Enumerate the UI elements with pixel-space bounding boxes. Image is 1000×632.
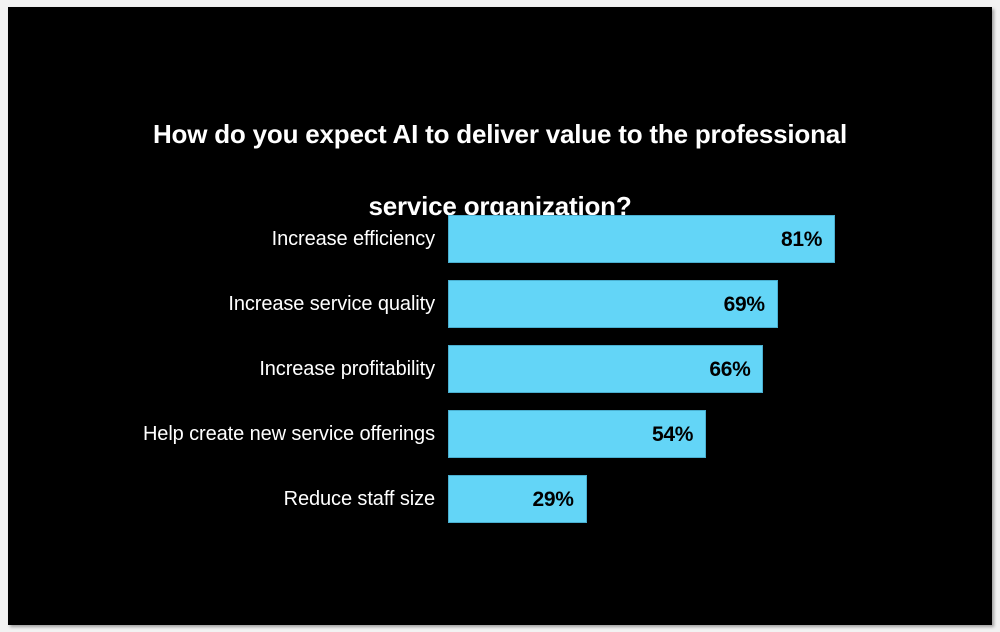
bar-category-label: Reduce staff size [8, 475, 435, 523]
bar-increase-efficiency[interactable]: 81% [448, 215, 835, 263]
bar-track: 54% [448, 410, 706, 458]
bar-row: Reduce staff size 29% [8, 475, 992, 523]
bar-value-label: 69% [724, 294, 777, 315]
bar-value-label: 29% [532, 489, 585, 510]
bar-category-label: Increase profitability [8, 345, 435, 393]
bar-row: Help create new service offerings 54% [8, 410, 992, 458]
bar-reduce-staff-size[interactable]: 29% [448, 475, 587, 523]
bar-row: Increase service quality 69% [8, 280, 992, 328]
bar-track: 66% [448, 345, 763, 393]
bar-help-create-new-service-offerings[interactable]: 54% [448, 410, 706, 458]
bar-value-label: 81% [781, 229, 834, 250]
chart-figure: How do you expect AI to deliver value to… [0, 0, 1000, 632]
bar-increase-profitability[interactable]: 66% [448, 345, 763, 393]
bar-chart-plot-area: Increase efficiency 81% Increase service… [8, 215, 992, 555]
bar-category-label: Increase service quality [8, 280, 435, 328]
bar-value-label: 66% [709, 359, 762, 380]
chart-title: How do you expect AI to deliver value to… [8, 80, 992, 224]
bar-category-label: Help create new service offerings [8, 410, 435, 458]
bar-category-label: Increase efficiency [8, 215, 435, 263]
chart-title-line-1: How do you expect AI to deliver value to… [153, 119, 847, 149]
bar-row: Increase efficiency 81% [8, 215, 992, 263]
bar-row: Increase profitability 66% [8, 345, 992, 393]
bar-track: 29% [448, 475, 587, 523]
bar-value-label: 54% [652, 424, 705, 445]
bar-track: 69% [448, 280, 778, 328]
chart-panel: How do you expect AI to deliver value to… [8, 7, 992, 625]
bar-increase-service-quality[interactable]: 69% [448, 280, 778, 328]
bar-track: 81% [448, 215, 835, 263]
